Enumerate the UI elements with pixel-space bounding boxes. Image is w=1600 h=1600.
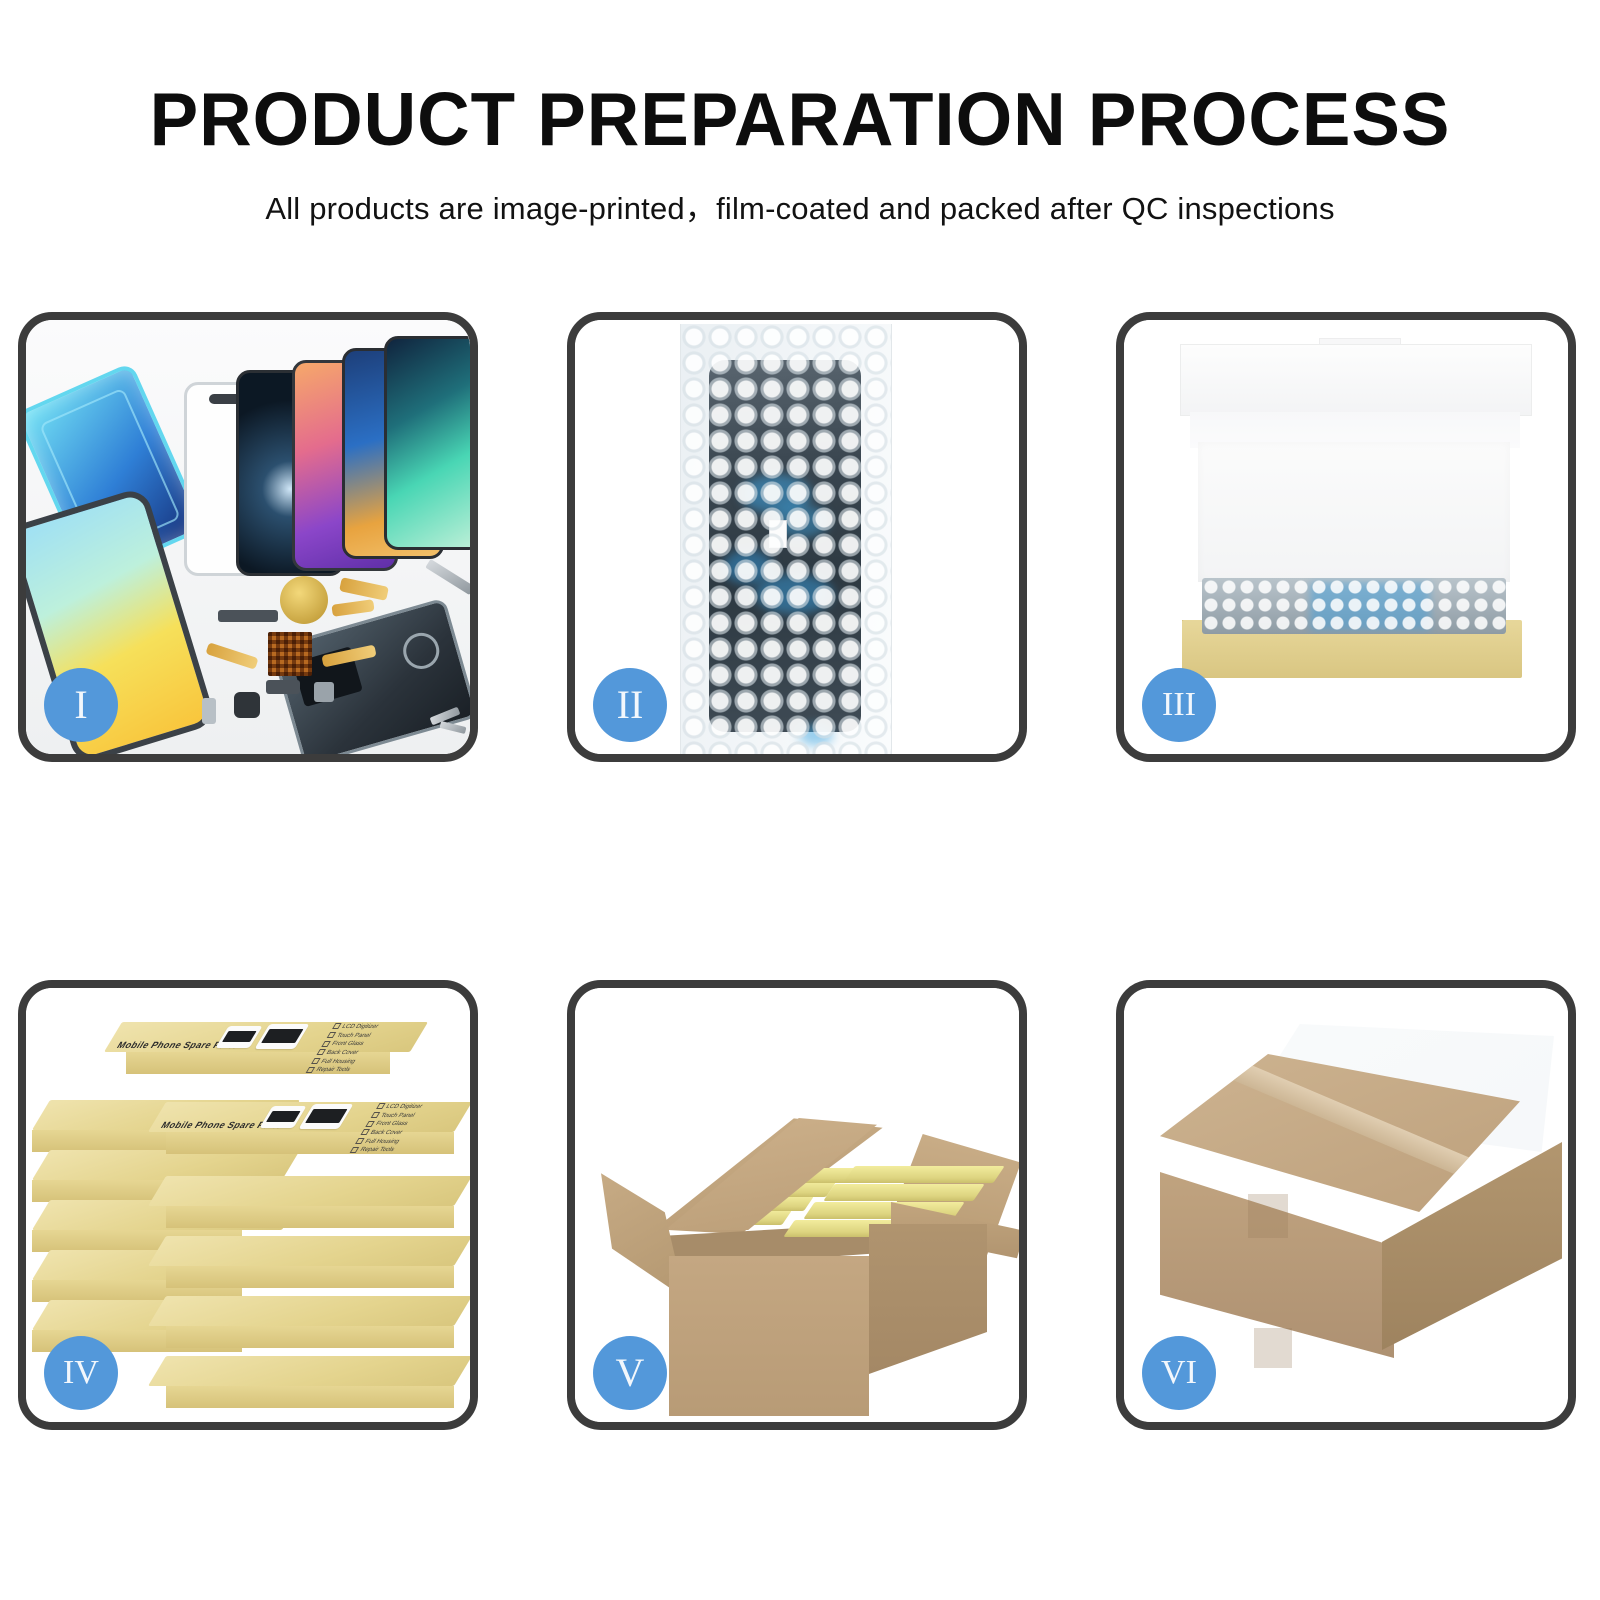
step-panel-iii[interactable]: III [1116,312,1576,762]
box-front-face [166,1266,454,1288]
box-front-face [166,1386,454,1408]
checklist-item: Back Cover [315,1049,365,1058]
page-title: PRODUCT PREPARATION PROCESS [24,82,1576,157]
retail-box-stack-item [148,1296,454,1340]
retail-box-stack-item [148,1236,454,1280]
retail-box-stack-item [148,1176,454,1220]
bubble-wrap-bag [680,324,892,754]
part-vibration-motor [314,682,334,702]
step-badge-iv: IV [44,1336,118,1410]
step-badge-iii: III [1142,668,1216,742]
step-badge-v: V [593,1336,667,1410]
part-connector [266,680,300,694]
checklist-item: Full Housing [354,1138,404,1147]
step-panel-ii[interactable]: II [567,312,1027,762]
checklist-item: Front Glass [320,1040,370,1049]
step-badge-vi: VI [1142,1336,1216,1410]
retail-box-stack-item [148,1356,454,1400]
carton-right-face [869,1224,987,1374]
box-front-face [166,1132,454,1154]
part-speaker-grille [218,610,278,622]
step-badge-ii: II [593,668,667,742]
retail-box-labelled-second: Mobile Phone Spare Parts LCD Digitizer T… [148,1102,454,1146]
step-panel-i[interactable]: I [18,312,478,762]
checklist-item: Repair Tools [304,1066,354,1075]
gold-box-in-carton [823,1184,984,1201]
part-screw-b [440,721,467,734]
bubble-wrapped-product [1202,578,1506,634]
step-panel-vi[interactable]: VI [1116,980,1576,1430]
process-step-grid: I II [18,300,1590,1450]
box-top-face [148,1296,470,1326]
phone-screen-teal [384,336,470,550]
checklist-item: LCD Digitizer [330,1023,380,1032]
part-camera-module [234,692,260,718]
box-top-face [148,1176,470,1206]
step-badge-i: I [44,668,118,742]
box-front-face [166,1206,454,1228]
part-repair-tool [425,559,470,595]
checklist-item: Back Cover [359,1129,409,1138]
bubble-texture [681,324,891,754]
carton-front-face [669,1256,869,1416]
part-wireless-charging-coil [280,576,328,624]
checklist-item: LCD Digitizer [374,1103,424,1112]
part-flex-cable-second [331,599,374,617]
box-top-face [148,1236,470,1266]
page-header: PRODUCT PREPARATION PROCESS All products… [0,0,1600,228]
checklist-item: Full Housing [310,1058,360,1067]
mailer-lid [1180,344,1532,416]
gold-box-in-carton [843,1166,1004,1183]
foam-insert [1198,442,1510,582]
box-front-face [166,1326,454,1348]
part-flex-cable-left [205,642,258,669]
checklist-item: Front Glass [364,1120,414,1129]
step-panel-iv[interactable]: Mobile Phone Spare Parts LCD Digitizer T… [18,980,478,1430]
carton-tape-patch-top [1248,1194,1288,1238]
part-sim-tray [202,698,216,724]
checklist-item: Touch Panel [369,1112,419,1121]
page-subtitle: All products are image-printed，film-coat… [0,183,1600,228]
carton-tape-patch-bottom [1254,1328,1292,1368]
checklist-item: Repair Tools [348,1146,398,1155]
checklist-item: Touch Panel [325,1032,375,1041]
box-top-face [148,1356,470,1386]
step-panel-v[interactable]: V [567,980,1027,1430]
part-flex-cable-top [339,577,389,601]
retail-box-labelled-top: Mobile Phone Spare Parts LCD Digitizer T… [104,1022,410,1066]
part-ic-chip [268,632,312,676]
bubble-texture-small [1202,578,1506,634]
